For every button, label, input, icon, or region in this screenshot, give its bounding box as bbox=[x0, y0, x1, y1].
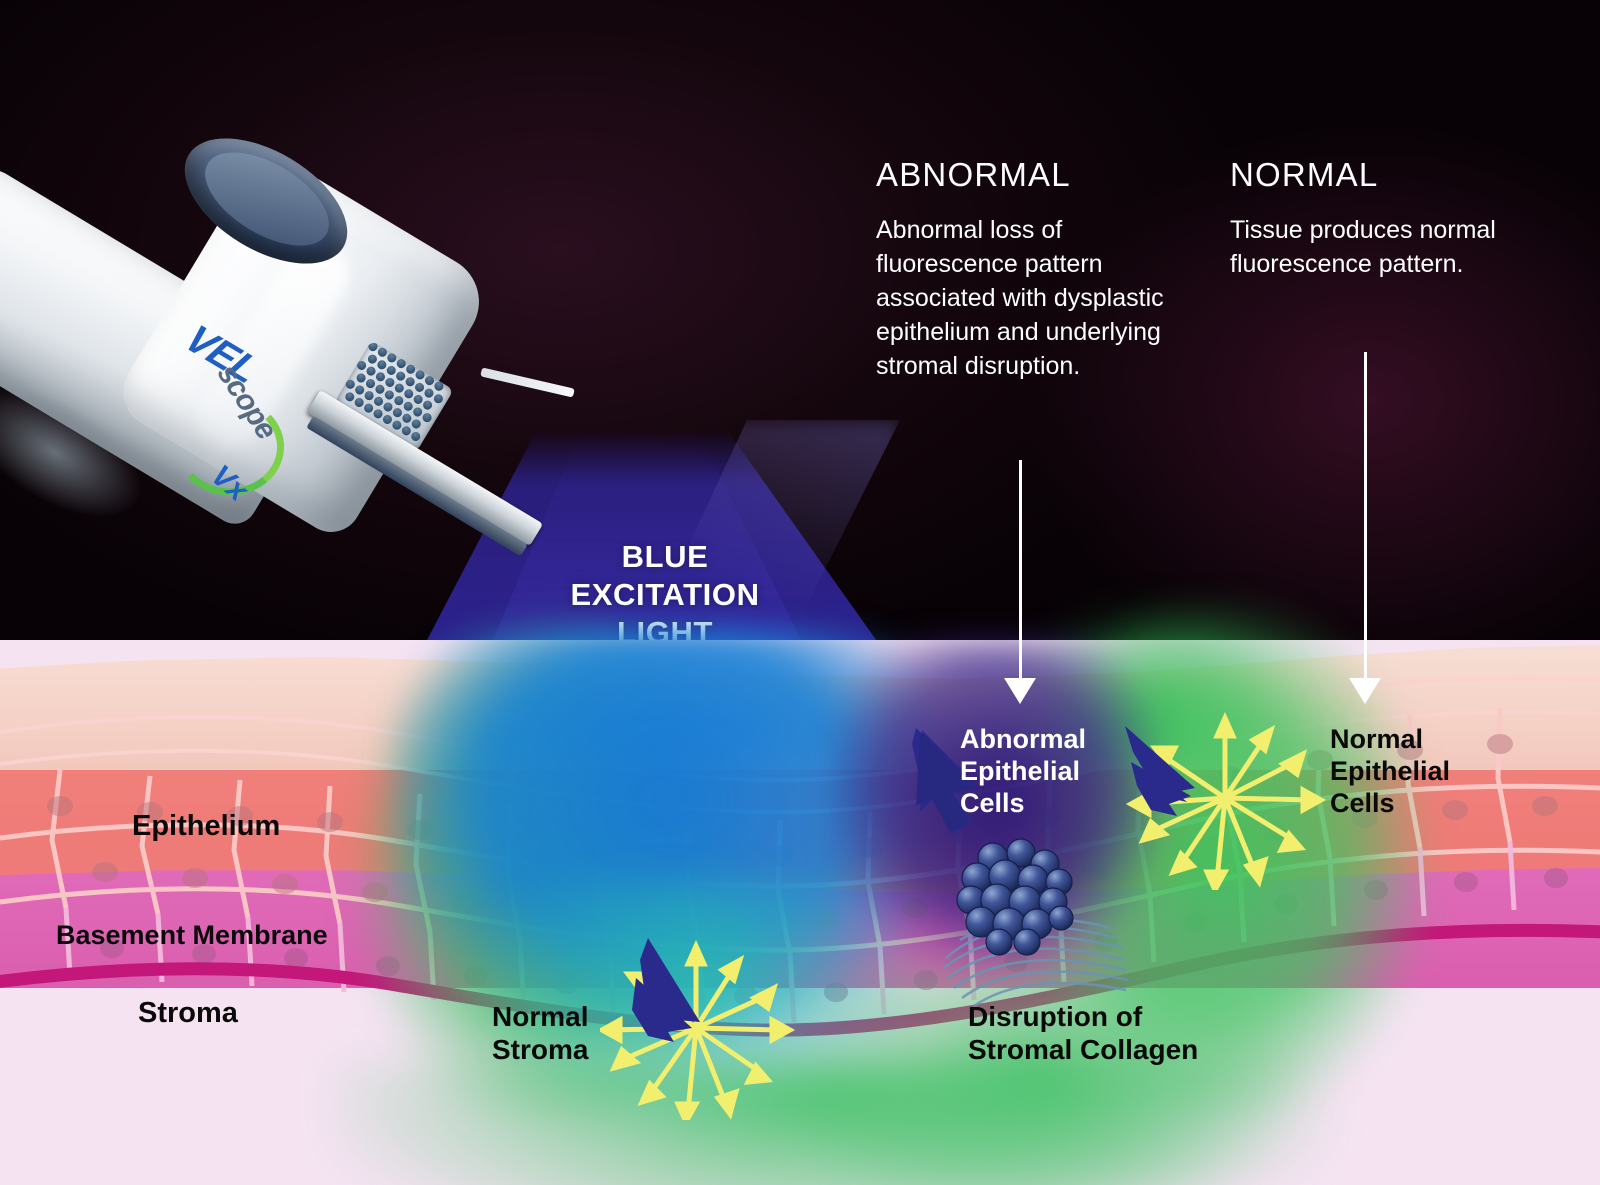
annotation-normal-line1: Normal bbox=[1330, 724, 1450, 756]
annotation-normal-stroma: Normal Stroma bbox=[492, 1000, 588, 1066]
leader-arrowhead-normal bbox=[1349, 678, 1381, 704]
callout-normal-body: Tissue produces normal fluorescence patt… bbox=[1230, 213, 1530, 281]
vent-hole bbox=[409, 430, 421, 442]
label-epithelium: Epithelium bbox=[132, 810, 280, 843]
annotation-stroma-line1: Normal bbox=[492, 1000, 588, 1033]
leader-line-abnormal bbox=[1019, 460, 1022, 682]
annotation-normal-line3: Cells bbox=[1330, 788, 1450, 820]
vent-hole bbox=[432, 392, 444, 404]
diagram-canvas: BLUE EXCITATION LIGHT bbox=[0, 0, 1600, 1185]
callout-normal-heading: NORMAL bbox=[1230, 158, 1530, 191]
device-tip bbox=[480, 367, 575, 397]
vent-hole bbox=[433, 380, 445, 392]
annotation-abnormal-line3: Cells bbox=[960, 788, 1086, 820]
callout-abnormal-body: Abnormal loss of fluorescence pattern as… bbox=[876, 213, 1176, 383]
annotation-stroma-line2: Stroma bbox=[492, 1033, 588, 1066]
leader-line-normal bbox=[1364, 352, 1367, 682]
annotation-normal-epithelial-cells: Normal Epithelial Cells bbox=[1330, 724, 1450, 820]
annotation-normal-line2: Epithelial bbox=[1330, 756, 1450, 788]
normal-epithelium-fluorescence-starburst bbox=[1125, 700, 1335, 890]
annotation-collagen-line1: Disruption of bbox=[968, 1000, 1198, 1033]
callout-normal: NORMAL Tissue produces normal fluorescen… bbox=[1230, 158, 1530, 281]
vent-hole bbox=[410, 418, 422, 430]
annotation-collagen-line2: Stromal Collagen bbox=[968, 1033, 1198, 1066]
leader-arrowhead-abnormal bbox=[1004, 678, 1036, 704]
tissue-cross-section bbox=[0, 640, 1600, 1185]
normal-stroma-fluorescence-starburst bbox=[600, 930, 800, 1120]
callout-abnormal-heading: ABNORMAL bbox=[876, 158, 1176, 191]
vent-hole bbox=[420, 411, 432, 423]
label-stroma: Stroma bbox=[138, 997, 238, 1030]
annotation-abnormal-epithelial-cells: Abnormal Epithelial Cells bbox=[960, 724, 1086, 820]
annotation-disruption-of-stromal-collagen: Disruption of Stromal Collagen bbox=[968, 1000, 1198, 1066]
vent-hole bbox=[421, 399, 433, 411]
annotation-abnormal-line2: Epithelial bbox=[960, 756, 1086, 788]
callout-abnormal: ABNORMAL Abnormal loss of fluorescence p… bbox=[876, 158, 1176, 383]
velscope-device[interactable]: VEL scope Vx bbox=[0, 60, 640, 680]
annotation-abnormal-line1: Abnormal bbox=[960, 724, 1086, 756]
label-basement-membrane: Basement Membrane bbox=[56, 920, 328, 951]
